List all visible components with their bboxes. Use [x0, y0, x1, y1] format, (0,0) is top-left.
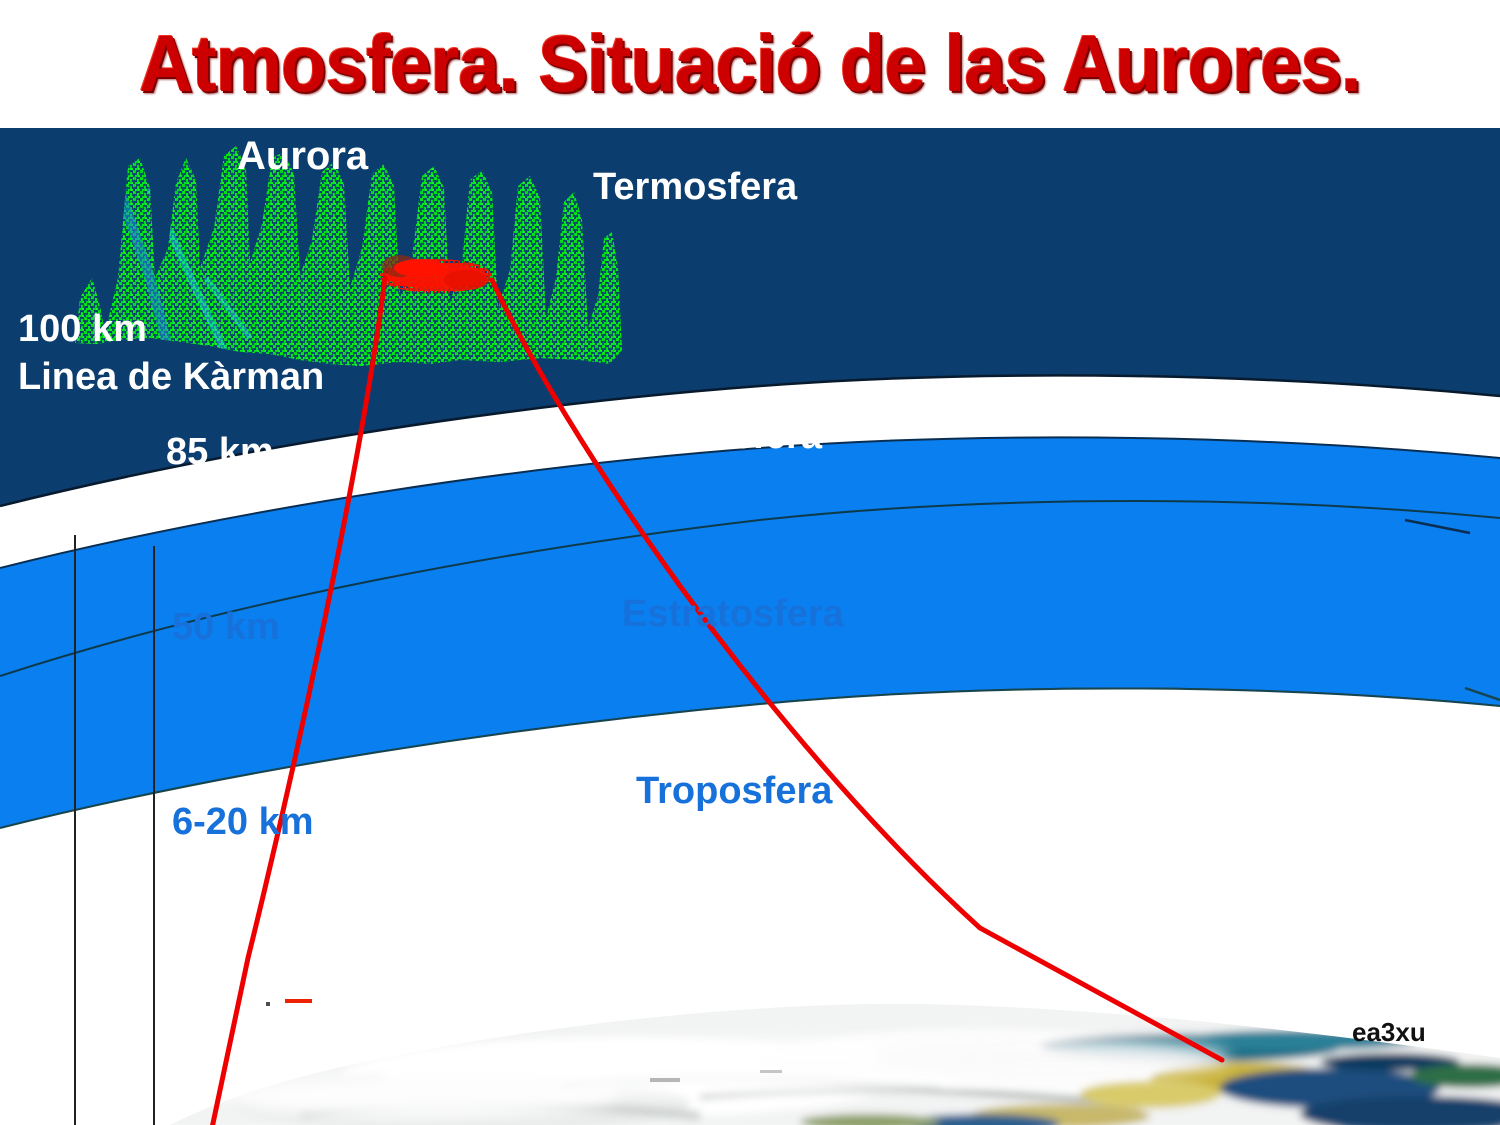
page-title: Atmosfera. Situació de las Aurores. — [53, 18, 1448, 110]
title-bar: Atmosfera. Situació de las Aurores. — [0, 0, 1500, 128]
atmosphere-diagram: Aurora Termosfera 100 km Linea de Kàrman… — [0, 128, 1500, 1125]
diagram-canvas — [0, 128, 1500, 1125]
slide: Atmosfera. Situació de las Aurores. — [0, 0, 1500, 1125]
artifact-dot-1 — [266, 1002, 270, 1006]
